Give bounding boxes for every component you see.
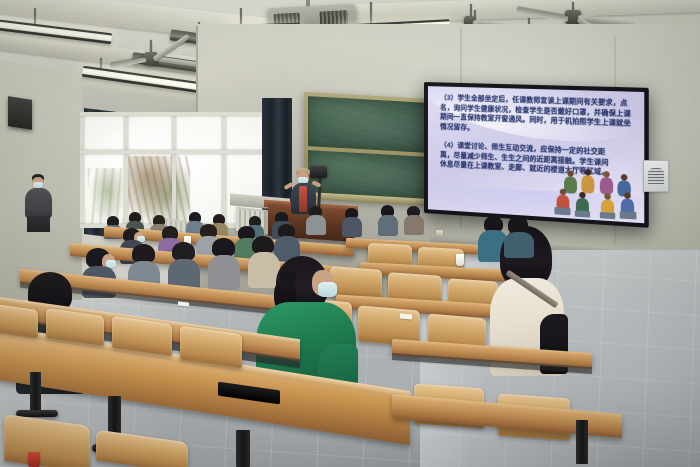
desk-leg: [30, 372, 41, 414]
illustration-chair: [600, 211, 615, 218]
torso: [342, 217, 362, 237]
audience-member: [404, 206, 424, 234]
torso: [378, 215, 398, 236]
audience-member: [342, 208, 362, 236]
illustration-person-head: [560, 188, 566, 195]
standing-man-torso: [25, 188, 52, 218]
audience-member: [378, 205, 398, 235]
desk-leg: [576, 420, 588, 464]
illustration-person-head: [584, 169, 591, 176]
slide-surface: （3）学生全部坐定后，任课教师宣读上课期间有关要求，点名，询问学生健康状况，检查…: [428, 86, 644, 223]
illustration-person-head: [603, 171, 610, 178]
illustration-person-head: [579, 191, 586, 198]
slide-illustration: [554, 165, 637, 220]
illustration-chair: [575, 210, 590, 217]
audience-member: [306, 206, 326, 234]
torso: [504, 232, 534, 258]
wall-sign: [643, 160, 669, 192]
sign-glyph-icon: [648, 168, 664, 184]
illustration-person-body: [600, 177, 613, 195]
wall-speaker: [8, 96, 32, 130]
audience-member: [208, 238, 240, 288]
standing-man: [22, 174, 54, 232]
paper-cup: [456, 254, 464, 266]
window-mullion: [222, 112, 226, 228]
paper-slip: [400, 313, 412, 319]
standing-man-legs: [27, 216, 50, 232]
projection-screen: （3）学生全部坐定后，任课教师宣读上课期间有关要求，点名，询问学生健康状况，检查…: [424, 82, 649, 228]
illustration-person-head: [567, 170, 573, 177]
classroom-photo: （3）学生全部坐定后，任课教师宣读上课期间有关要求，点名，询问学生健康状况，检查…: [0, 0, 700, 467]
window-mullion: [80, 112, 276, 116]
window-mullion: [80, 112, 84, 228]
torso: [404, 215, 424, 235]
power-outlet: [436, 230, 443, 236]
slide-paragraph-3: （3）学生全部坐定后，任课教师宣读上课期间有关要求，点名，询问学生健康状况，检查…: [440, 94, 635, 140]
torso: [306, 215, 326, 235]
illustration-person-body: [581, 175, 594, 194]
hair-tie: [280, 272, 296, 281]
face-mask: [318, 282, 337, 297]
desk-leg: [236, 430, 250, 467]
water-bottle-cap: [28, 452, 40, 467]
illustration-person-head: [604, 193, 611, 200]
audience-member: [168, 242, 200, 290]
audience-member-behind: [504, 216, 534, 256]
illustration-person-head: [624, 192, 631, 199]
window-mullion: [80, 150, 276, 154]
illustration-chair: [554, 207, 570, 215]
illustration-chair: [620, 211, 637, 219]
torso: [208, 255, 240, 290]
window-mullion: [124, 112, 128, 228]
illustration-person-head: [621, 174, 628, 181]
window-mullion: [172, 112, 176, 228]
light-rod: [370, 2, 372, 24]
standing-man-arms: [25, 204, 51, 210]
